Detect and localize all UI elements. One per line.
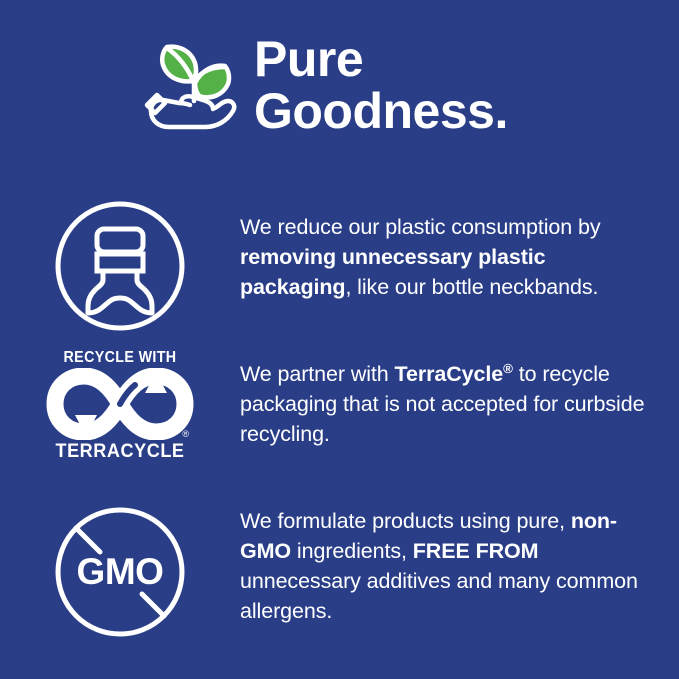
registered-trademark-mark: ® [182, 430, 189, 439]
no-gmo-icon: GMO [50, 502, 190, 647]
feature-icon-cell: RECYCLE WITH ® TERRACYCLE [0, 347, 240, 462]
feature-text: We reduce our plastic consumption by rem… [240, 190, 679, 302]
feature-text-segment: unnecessary additives and many common al… [240, 569, 638, 623]
registered-trademark-superscript: ® [503, 361, 513, 376]
terracycle-logo-icon: RECYCLE WITH ® TERRACYCLE [45, 349, 195, 462]
feature-row: RECYCLE WITH ® TERRACYCLE [0, 347, 679, 497]
feature-text-segment: , like our bottle neckbands. [345, 275, 598, 299]
feature-row: We reduce our plastic consumption by rem… [0, 190, 679, 350]
brand-header: Pure Goodness. [0, 0, 679, 175]
brand-title-line-1: Pure [254, 33, 654, 85]
feature-text: We formulate products using pure, non-GM… [240, 490, 679, 626]
feature-text-segment: We partner with [240, 362, 395, 386]
feature-text-segment: We formulate products using pure, [240, 509, 571, 533]
feature-icon-cell: GMO [0, 490, 240, 647]
feature-text-segment: ingredients, [291, 539, 413, 563]
terracycle-bottom-label: TERRACYCLE [49, 441, 192, 462]
no-gmo-label: GMO [50, 502, 190, 642]
feature-text-segment: We reduce our plastic consumption by [240, 215, 601, 239]
feature-text: We partner with TerraCycle® to recycle p… [240, 347, 679, 449]
hand-holding-sprout-icon [143, 33, 247, 137]
infinity-recycle-arrows-icon: ® [45, 368, 195, 440]
feature-icon-cell [0, 190, 240, 341]
feature-row: GMO We formulate products using pure, no… [0, 490, 679, 660]
feature-list: We reduce our plastic consumption by rem… [0, 175, 679, 679]
feature-text-segment-bold: TerraCycle [395, 362, 504, 386]
bottle-in-circle-icon [50, 196, 190, 341]
brand-title-line-2: Goodness. [254, 85, 654, 137]
feature-text-segment-bold: FREE FROM [413, 539, 539, 563]
page-title: Pure Goodness. [254, 33, 654, 137]
terracycle-top-label: RECYCLE WITH [51, 349, 189, 366]
